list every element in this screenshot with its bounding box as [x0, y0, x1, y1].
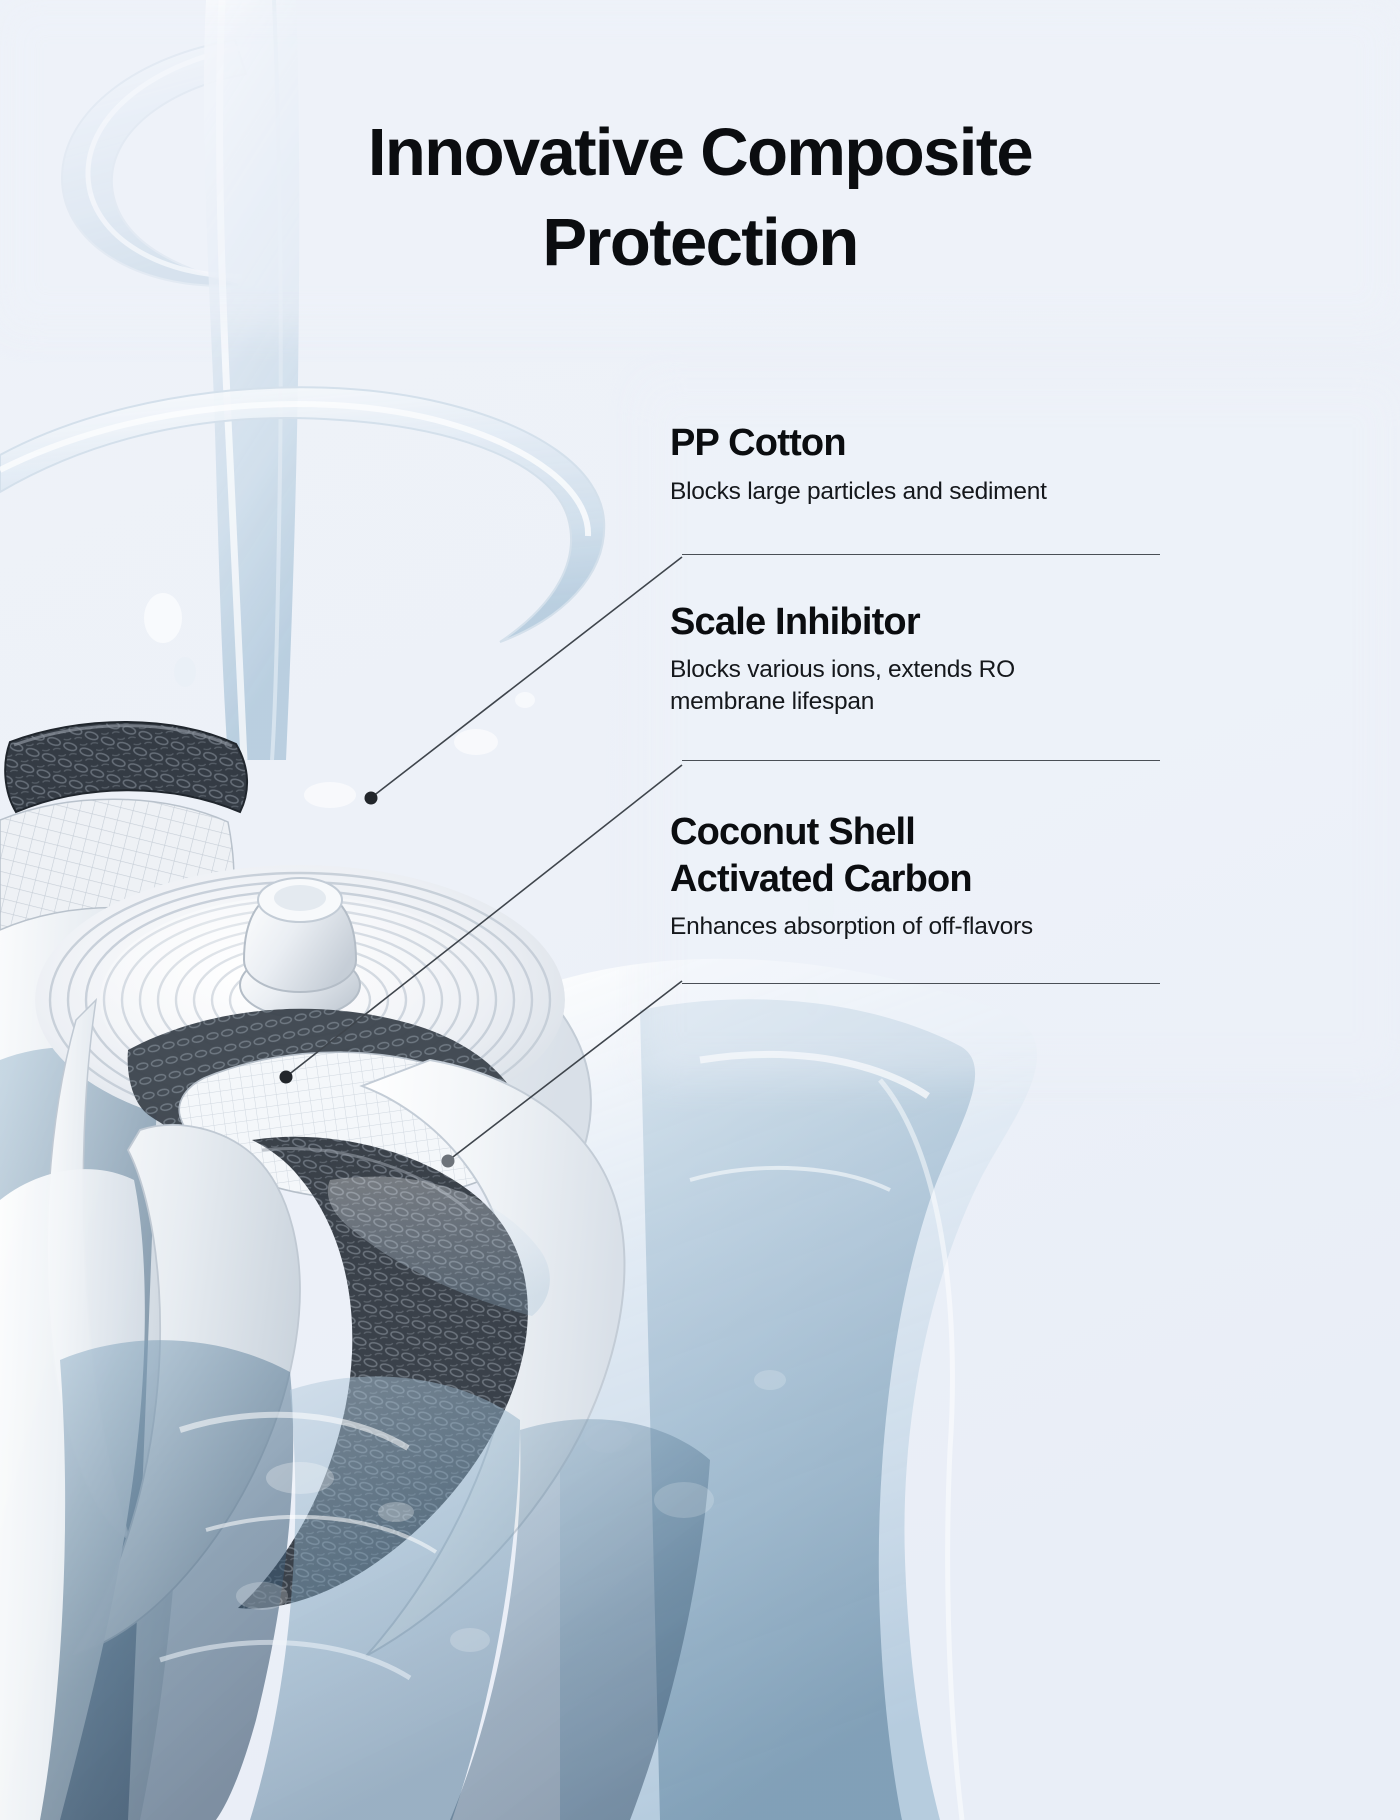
- callout-pp-cotton: PP Cotton Blocks large particles and sed…: [670, 420, 1160, 508]
- core-tube: [240, 878, 360, 1017]
- callout-heading-scale-inhibitor: Scale Inhibitor: [670, 599, 1160, 646]
- callout-description-coconut-shell-activated-carbon: Enhances absorption of off-flavors: [670, 911, 1160, 943]
- callout-divider-3: [682, 983, 1160, 984]
- callout-heading-coconut-shell-activated-carbon: Coconut Shell Activated Carbon: [670, 809, 1160, 902]
- callout-list: PP Cotton Blocks large particles and sed…: [670, 420, 1160, 984]
- callout-description-scale-inhibitor: Blocks various ions, extends RO membrane…: [670, 654, 1160, 718]
- callout-scale-inhibitor: Scale Inhibitor Blocks various ions, ext…: [670, 599, 1160, 718]
- callout-coconut-shell-activated-carbon: Coconut Shell Activated Carbon Enhances …: [670, 809, 1160, 943]
- callout-heading-pp-cotton: PP Cotton: [670, 420, 1160, 467]
- callout-description-pp-cotton: Blocks large particles and sediment: [670, 476, 1160, 508]
